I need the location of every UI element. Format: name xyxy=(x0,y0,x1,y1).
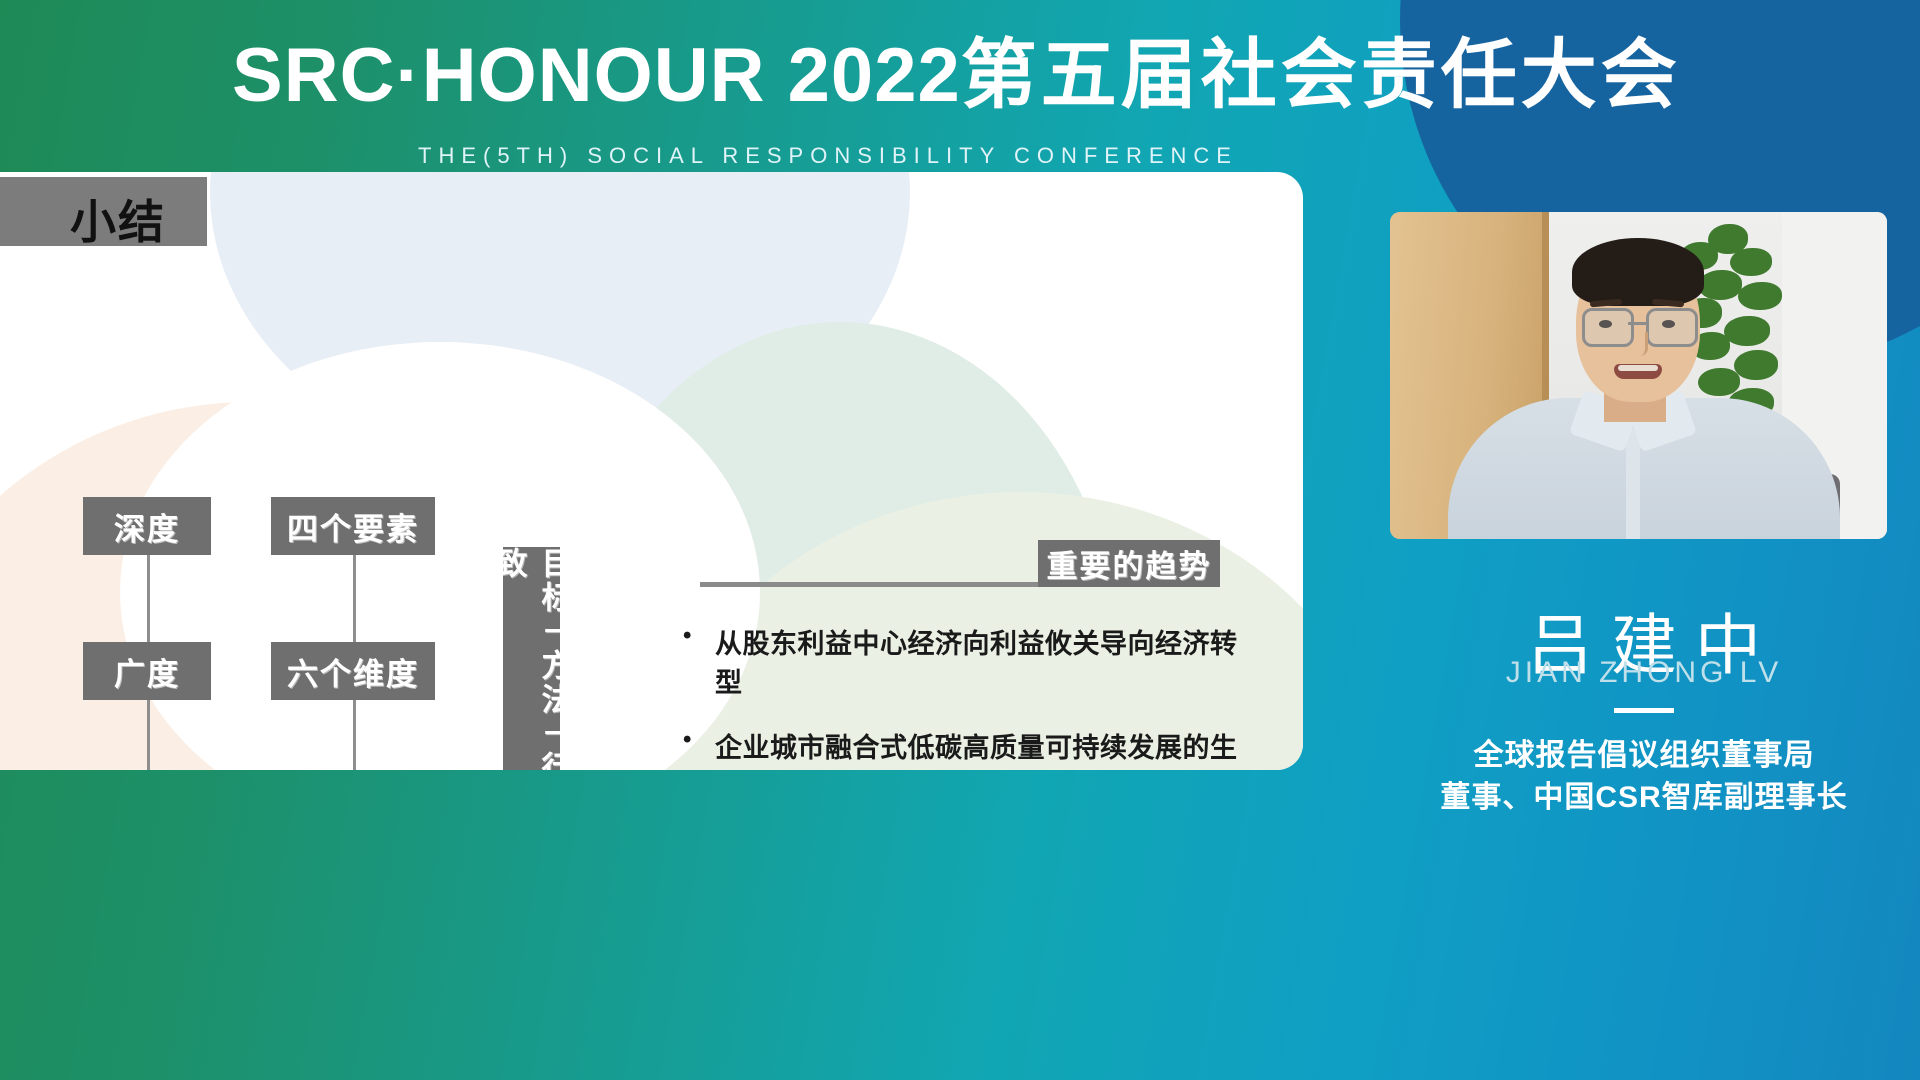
brand-latin-text: SRC·HONOUR 2022 xyxy=(232,33,961,118)
bullet-icon: • xyxy=(683,726,715,754)
speaker-role-line-1: 全球报告倡议组织董事局 xyxy=(1368,730,1920,774)
speaker-nose xyxy=(1629,332,1648,356)
trends-list: • 从股东利益中心经济向利益攸关导向经济转型 • 企业城市融合式低碳高质量可持续… xyxy=(683,622,1243,770)
presentation-stage: SRC·HONOUR 2022第五届社会责任大会 THE(5TH) SOCIAL… xyxy=(0,0,1920,1080)
trends-header: 重要的趋势 xyxy=(700,540,1220,587)
bullet-icon: • xyxy=(683,622,715,650)
flow-chip-six-dimensions[interactable]: 六个维度 xyxy=(271,642,435,700)
conference-subtitle: THE(5TH) SOCIAL RESPONSIBILITY CONFERENC… xyxy=(238,143,1418,169)
trends-badge-label: 重要的趋势 xyxy=(1038,540,1220,587)
list-item-label: 从股东利益中心经济向利益攸关导向经济转型 xyxy=(715,622,1243,700)
flow-chip-vertical-goal-method-action[interactable]: 目标－方法－行动 三个一致 xyxy=(503,547,560,770)
summary-flow-diagram: 深度 广度 价值 四个要素 六个维度 四个环节 xyxy=(0,172,560,770)
glasses-lens-left xyxy=(1582,308,1634,347)
speaker-name-pinyin: JIAN ZHONG LV xyxy=(1368,656,1920,690)
list-item-label: 企业城市融合式低碳高质量可持续发展的生态 xyxy=(715,726,1243,770)
glasses-lens-right xyxy=(1646,308,1698,347)
list-item: • 企业城市融合式低碳高质量可持续发展的生态 xyxy=(683,726,1243,770)
speaker-hair xyxy=(1572,238,1704,306)
conference-brand-title: SRC·HONOUR 2022第五届社会责任大会 xyxy=(232,38,1681,114)
slide-panel: 小结 深度 广度 价值 四个要素 六个维度 四个环节 目标－方法－行动 三个一致… xyxy=(0,172,1303,770)
brand-cjk-text: 第五届社会责任大会 xyxy=(961,33,1681,118)
flow-chip-four-elements[interactable]: 四个要素 xyxy=(271,497,435,555)
speaker-name-chinese: 吕建中 xyxy=(1368,592,1920,688)
shirt-placket xyxy=(1626,428,1640,539)
list-item: • 从股东利益中心经济向利益攸关导向经济转型 xyxy=(683,622,1243,700)
speaker-role-line-2: 董事、中国CSR智库副理事长 xyxy=(1368,772,1920,816)
speaker-video-feed[interactable] xyxy=(1390,212,1887,539)
speaker-teeth xyxy=(1618,365,1658,371)
speaker-name-divider xyxy=(1614,708,1674,713)
conference-header: SRC·HONOUR 2022第五届社会责任大会 THE(5TH) SOCIAL… xyxy=(0,0,1920,172)
glasses-bridge xyxy=(1628,322,1646,325)
flow-chip-breadth[interactable]: 广度 xyxy=(83,642,211,700)
flow-connector-right-lower xyxy=(353,700,356,770)
flow-chip-depth[interactable]: 深度 xyxy=(83,497,211,555)
flow-connector-left-lower xyxy=(147,700,150,770)
